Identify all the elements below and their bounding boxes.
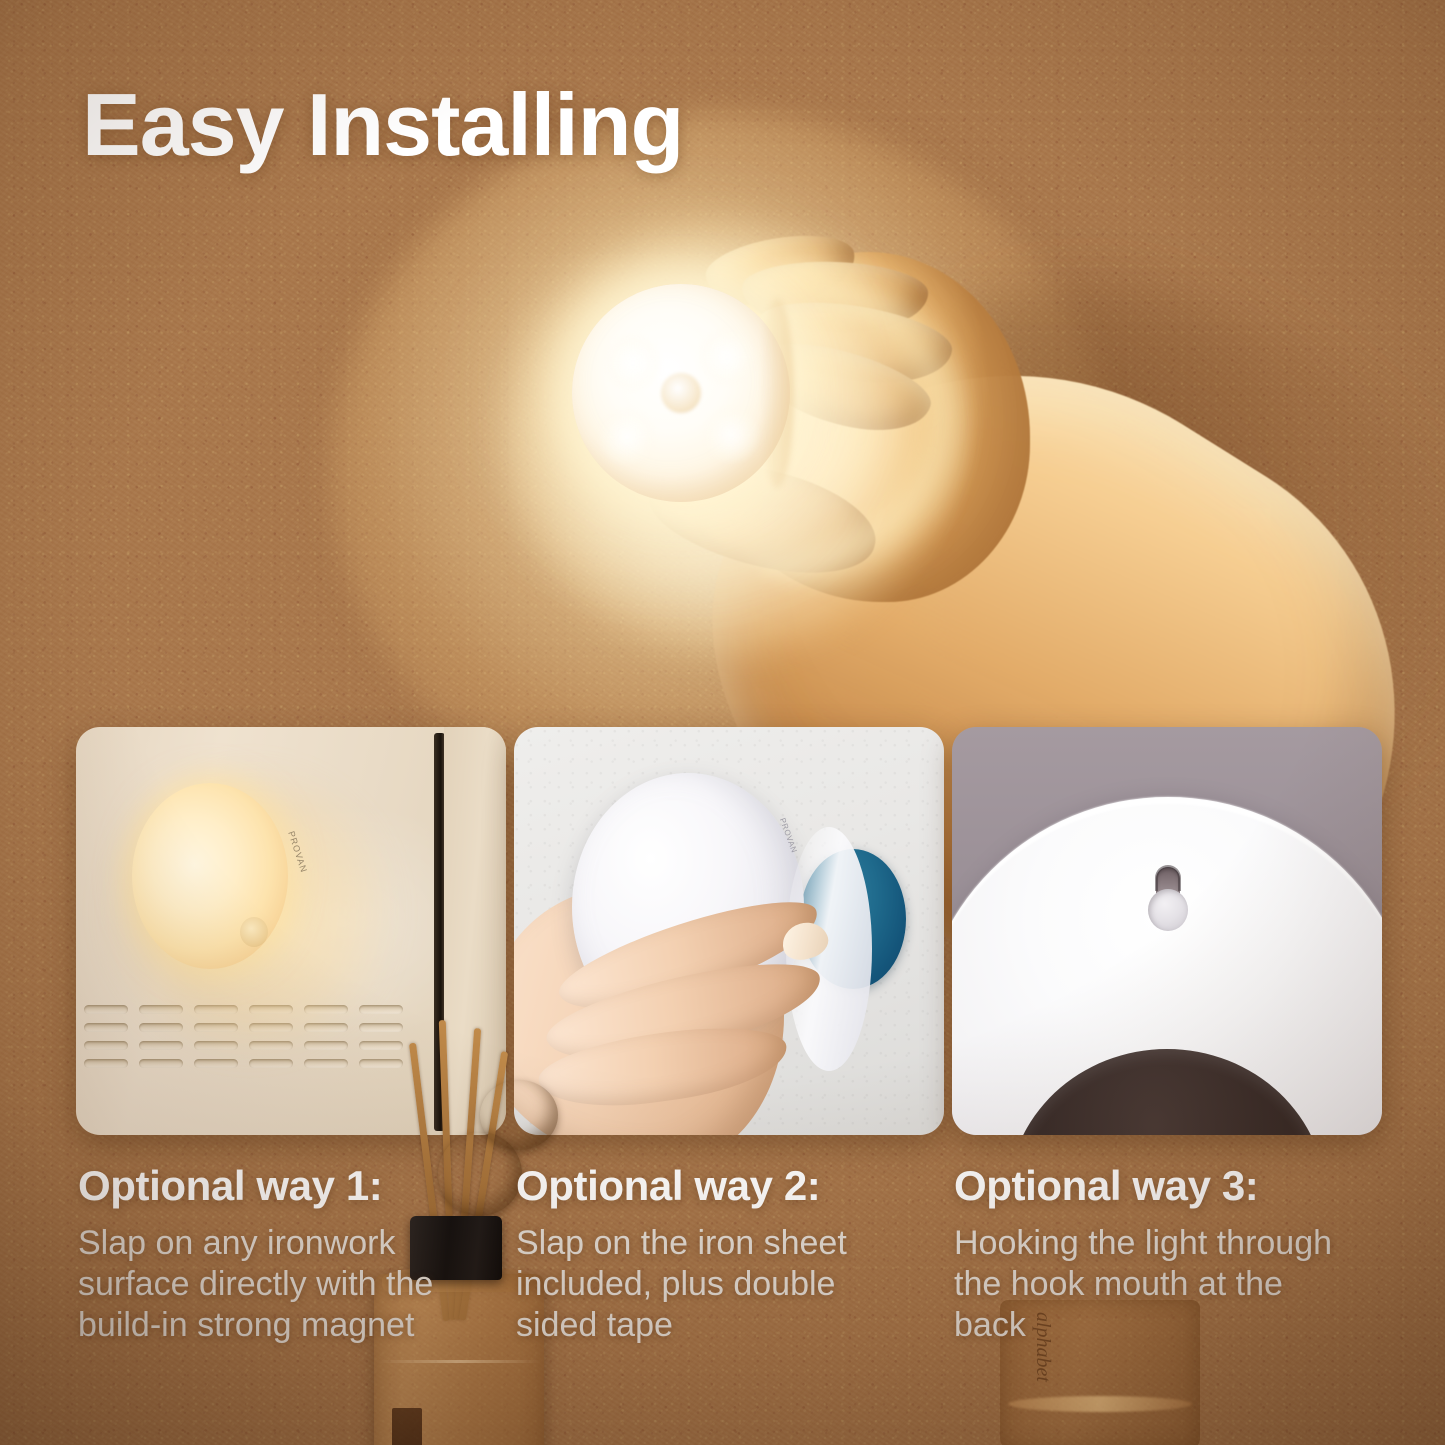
caption-2: Optional way 2: Slap on the iron sheet i… [516,1165,916,1346]
vent-slot [359,1023,403,1032]
led-icon [600,410,654,464]
vent-slot [84,1005,128,1014]
motion-sensor-icon [661,373,701,413]
vent-slot [304,1059,348,1068]
led-icon [700,330,754,384]
vent-slot [139,1059,183,1068]
hook-mouth-icon [1148,867,1188,931]
caption-1: Optional way 1: Slap on any ironwork sur… [78,1165,478,1346]
bottle-highlight [378,1360,540,1363]
caption-heading: Optional way 1: [78,1165,478,1207]
caption-heading: Optional way 3: [954,1165,1354,1207]
vent-slot [84,1059,128,1068]
led-icon [606,336,660,390]
caption-heading: Optional way 2: [516,1165,916,1207]
install-photo-2: PROVAN [514,727,944,1135]
vent-slot [84,1023,128,1032]
vent-slot [84,1041,128,1050]
vent-slot [359,1041,403,1050]
keyhole-lip [1155,865,1181,891]
vent-slot [359,1059,403,1068]
caption-3: Optional way 3: Hooking the light throug… [954,1165,1354,1346]
page-title: Easy Installing [82,78,683,171]
glass-liquid-line [1008,1396,1192,1412]
disc-edge-shading [760,298,794,488]
caption-body: Slap on any ironwork surface directly wi… [78,1223,478,1346]
vent-slot [139,1041,183,1050]
led-icon [704,408,758,462]
vent-slot [194,1059,238,1068]
install-photo-3 [952,727,1382,1135]
keyhole-round [1148,889,1188,931]
motion-sensor-icon [240,917,268,947]
bottle-label [392,1408,422,1445]
caption-body: Slap on the iron sheet included, plus do… [516,1223,916,1346]
infographic-page: Easy Installing [0,0,1445,1445]
caption-body: Hooking the light through the hook mouth… [954,1223,1354,1346]
night-light-disc [572,284,790,502]
panel1-light-face [132,783,288,969]
